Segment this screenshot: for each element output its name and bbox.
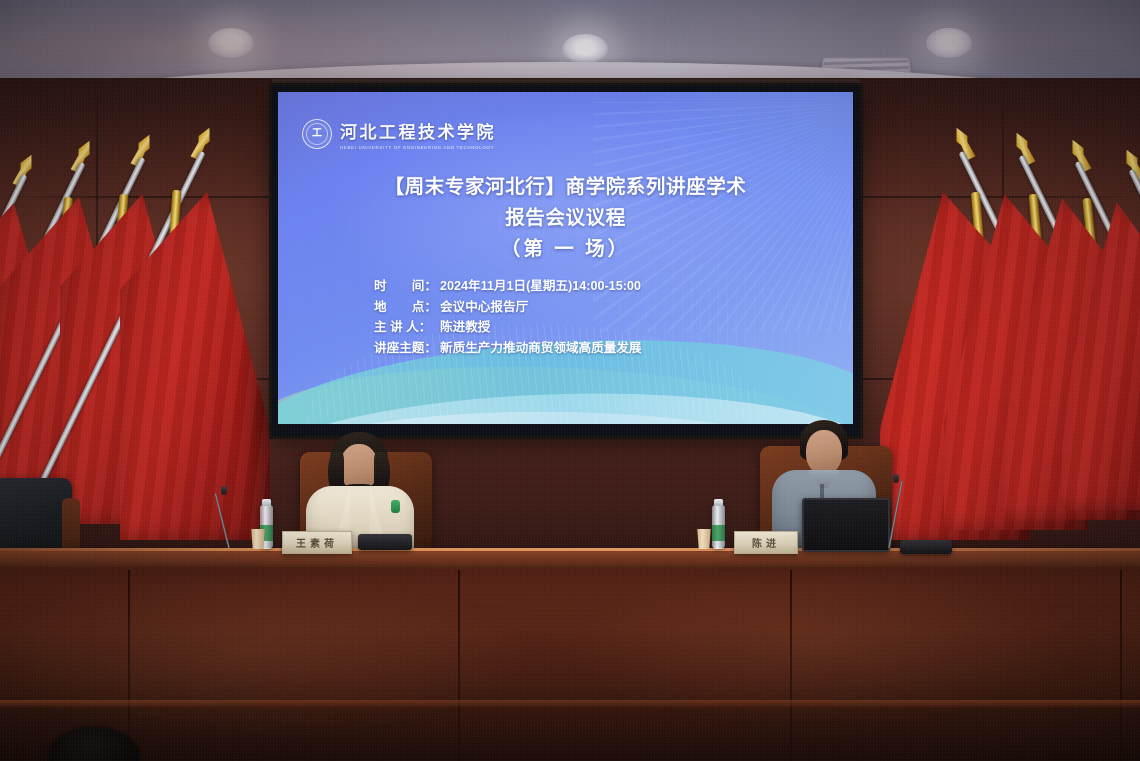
slide-info-value-time: 2024年11月1日(星期五)14:00-15:00 (440, 279, 641, 293)
desk-panel-seam-3 (790, 570, 792, 761)
slide-info-row-place: 地 点：会议中心报告厅 (374, 297, 642, 318)
presentation-slide: 工 河北工程技术学院 HEBEI UNIVERSITY OF ENGINEERI… (278, 92, 853, 424)
desk-panel-seam-4 (1120, 570, 1122, 761)
ceiling-light-3 (926, 28, 972, 58)
conference-desk-top (0, 548, 1140, 570)
bottle-cap-icon (262, 499, 271, 506)
crest-glyph: 工 (312, 129, 322, 139)
slide-info-label-place: 地 点： (374, 297, 440, 318)
slide-title-line-2: 报告会议议程 (278, 203, 853, 234)
slide-info-label-time: 时 间： (374, 276, 440, 297)
slide-title-line-3: （第 一 场） (278, 234, 853, 265)
conference-desk-front (0, 568, 1140, 761)
bottle-cap-icon (714, 499, 723, 506)
ceiling-light-2 (562, 34, 608, 64)
slide-info-label-speaker: 主 讲 人： (374, 317, 440, 338)
microphone-head-left (221, 486, 227, 495)
slide-info-value-topic: 新质生产力推动商贸领域高质量发展 (440, 341, 642, 355)
audio-device-right (900, 540, 952, 554)
chair-arm-far-left (62, 498, 80, 554)
microphone-head-right (893, 474, 899, 483)
desk-panel-seam-1 (128, 570, 130, 761)
university-name-en: HEBEI UNIVERSITY OF ENGINEERING AND TECH… (340, 145, 496, 150)
nameplate-left: 王素荷 (282, 531, 352, 554)
slide-info-row-topic: 讲座主题：新质生产力推动商贸领域高质量发展 (374, 338, 642, 359)
desk-edge-highlight (0, 548, 1140, 551)
slide-info-value-place: 会议中心报告厅 (440, 300, 528, 314)
conference-hall-photo: 工 河北工程技术学院 HEBEI UNIVERSITY OF ENGINEERI… (0, 0, 1140, 761)
university-wordmark: 河北工程技术学院 HEBEI UNIVERSITY OF ENGINEERING… (340, 118, 496, 150)
projection-screen: 工 河北工程技术学院 HEBEI UNIVERSITY OF ENGINEERI… (272, 86, 860, 436)
nameplate-right-text: 陈进 (752, 535, 780, 550)
slide-title-line-1: 【周末专家河北行】商学院系列讲座学术 (385, 176, 747, 198)
university-crest-icon: 工 (302, 119, 332, 149)
slide-title: 【周末专家河北行】商学院系列讲座学术 报告会议议程 （第 一 场） (278, 172, 853, 265)
slide-info-row-speaker: 主 讲 人：陈进教授 (374, 317, 642, 338)
desk-apron-line (0, 700, 1140, 708)
water-bottle-right (712, 505, 725, 549)
laptop-right (802, 498, 890, 552)
bottle-label (712, 525, 725, 541)
slide-info-block: 时 间：2024年11月1日(星期五)14:00-15:00 地 点：会议中心报… (374, 276, 642, 358)
slide-info-row-time: 时 间：2024年11月1日(星期五)14:00-15:00 (374, 276, 642, 297)
badge-left-person (391, 500, 400, 513)
audio-device-left (358, 534, 412, 550)
desk-panel-seam-2 (458, 570, 460, 761)
university-logo: 工 河北工程技术学院 HEBEI UNIVERSITY OF ENGINEERI… (302, 118, 496, 150)
nameplate-left-text: 王素荷 (296, 535, 338, 550)
head-right-person (806, 430, 842, 474)
ceiling-light-1 (208, 28, 254, 58)
university-name-cn: 河北工程技术学院 (340, 118, 496, 143)
nameplate-right: 陈进 (734, 531, 798, 554)
slide-info-label-topic: 讲座主题： (374, 338, 440, 359)
slide-info-value-speaker: 陈进教授 (440, 320, 490, 334)
